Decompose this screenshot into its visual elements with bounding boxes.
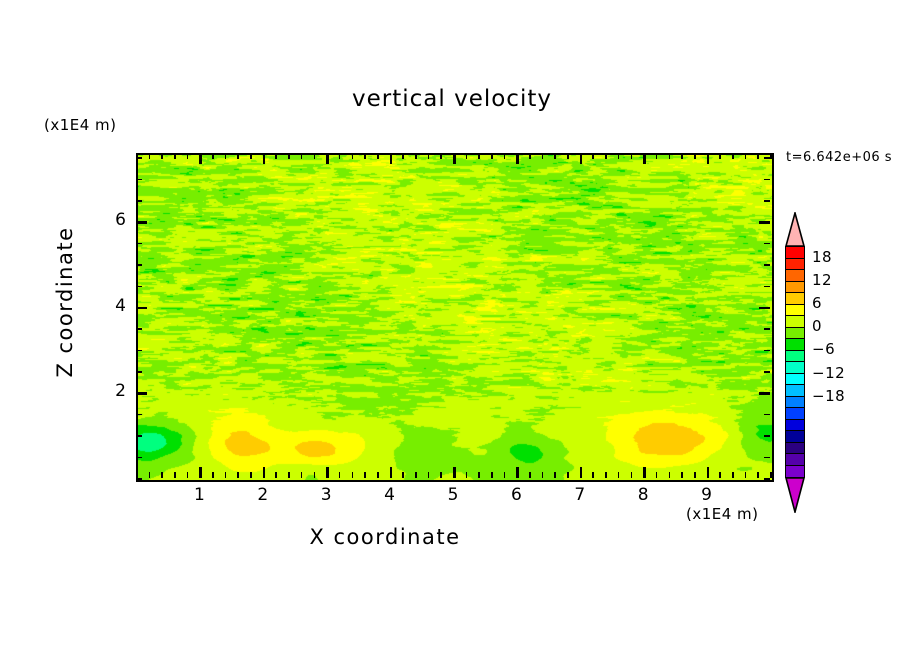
- colorbar-band: [786, 420, 804, 432]
- tick-mark: [643, 153, 646, 164]
- tick-mark: [618, 472, 620, 478]
- tick-mark: [567, 153, 569, 159]
- tick-mark: [149, 472, 151, 478]
- colorbar-band: [786, 339, 804, 351]
- tick-mark: [390, 467, 393, 478]
- x-tick-label: 2: [243, 485, 283, 505]
- tick-mark: [161, 153, 163, 159]
- tick-mark: [770, 153, 772, 159]
- colorbar-band: [786, 282, 804, 294]
- colorbar-band: [786, 431, 804, 443]
- y-tick-label: 2: [96, 381, 126, 401]
- tick-mark: [719, 472, 721, 478]
- tick-mark: [764, 243, 770, 245]
- tick-mark: [288, 153, 290, 159]
- tick-mark: [592, 472, 594, 478]
- tick-mark: [764, 414, 770, 416]
- x-axis-title: X coordinate: [0, 525, 770, 549]
- tick-mark: [453, 153, 456, 164]
- colorbar-over-cap: [785, 212, 805, 247]
- tick-mark: [453, 467, 456, 478]
- tick-mark: [732, 472, 734, 478]
- tick-mark: [136, 179, 142, 181]
- tick-mark: [212, 153, 214, 159]
- tick-mark: [314, 153, 316, 159]
- tick-mark: [415, 472, 417, 478]
- tick-mark: [764, 478, 770, 480]
- colorbar-tick-label: 18: [812, 248, 832, 266]
- tick-mark: [199, 153, 202, 164]
- tick-mark: [225, 153, 227, 159]
- tick-mark: [199, 467, 202, 478]
- colorbar-tick-label: 0: [812, 317, 822, 335]
- colorbar-bands: [785, 246, 805, 478]
- tick-mark: [669, 472, 671, 478]
- tick-mark: [605, 153, 607, 159]
- colorbar-band: [786, 443, 804, 455]
- tick-mark: [707, 467, 710, 478]
- tick-mark: [136, 457, 142, 459]
- y-axis-units-label: (x1E4 m): [44, 116, 117, 134]
- tick-mark: [364, 472, 366, 478]
- tick-mark: [326, 467, 329, 478]
- tick-mark: [764, 179, 770, 181]
- tick-mark: [301, 153, 303, 159]
- colorbar-band: [786, 293, 804, 305]
- y-tick-label: 6: [96, 210, 126, 230]
- tick-mark: [580, 153, 583, 164]
- x-tick-label: 7: [560, 485, 600, 505]
- tick-mark: [136, 371, 142, 373]
- tick-mark: [352, 153, 354, 159]
- time-annotation: t=6.642e+06 s: [786, 150, 892, 165]
- tick-mark: [542, 472, 544, 478]
- contour-field: [138, 155, 772, 480]
- tick-mark: [136, 392, 147, 395]
- tick-mark: [225, 472, 227, 478]
- colorbar-band: [786, 328, 804, 340]
- tick-mark: [732, 153, 734, 159]
- colorbar-band: [786, 374, 804, 386]
- colorbar-tick-labels: 181260−6−12−18: [812, 212, 882, 512]
- tick-mark: [136, 350, 142, 352]
- tick-mark: [136, 157, 142, 159]
- tick-mark: [504, 472, 506, 478]
- tick-mark: [136, 221, 147, 224]
- tick-mark: [554, 153, 556, 159]
- tick-mark: [377, 472, 379, 478]
- tick-mark: [136, 478, 142, 480]
- tick-mark: [542, 153, 544, 159]
- tick-mark: [656, 472, 658, 478]
- colorbar-band: [786, 385, 804, 397]
- x-axis-units-label: (x1E4 m): [686, 505, 759, 523]
- tick-mark: [694, 472, 696, 478]
- tick-mark: [187, 472, 189, 478]
- tick-mark: [136, 243, 142, 245]
- tick-mark: [136, 328, 142, 330]
- tick-mark: [554, 472, 556, 478]
- colorbar-tick-label: −18: [812, 387, 845, 405]
- tick-mark: [466, 153, 468, 159]
- chart-title: vertical velocity: [0, 86, 904, 112]
- tick-mark: [681, 472, 683, 478]
- tick-mark: [237, 472, 239, 478]
- colorbar-under-cap: [785, 477, 805, 513]
- tick-mark: [174, 153, 176, 159]
- x-tick-label: 3: [306, 485, 346, 505]
- tick-mark: [764, 371, 770, 373]
- tick-mark: [136, 286, 142, 288]
- tick-mark: [187, 153, 189, 159]
- tick-mark: [440, 153, 442, 159]
- tick-mark: [237, 153, 239, 159]
- colorbar-band: [786, 454, 804, 466]
- tick-mark: [415, 153, 417, 159]
- tick-mark: [757, 472, 759, 478]
- tick-mark: [275, 472, 277, 478]
- tick-mark: [364, 153, 366, 159]
- colorbar-band: [786, 259, 804, 271]
- tick-mark: [339, 153, 341, 159]
- tick-mark: [250, 472, 252, 478]
- tick-mark: [326, 153, 329, 164]
- tick-mark: [669, 153, 671, 159]
- colorbar-band: [786, 351, 804, 363]
- tick-mark: [136, 264, 142, 266]
- tick-mark: [764, 286, 770, 288]
- tick-mark: [504, 153, 506, 159]
- tick-mark: [440, 472, 442, 478]
- colorbar-band: [786, 305, 804, 317]
- tick-mark: [764, 200, 770, 202]
- tick-mark: [764, 264, 770, 266]
- x-tick-label: 4: [370, 485, 410, 505]
- tick-mark: [136, 307, 147, 310]
- tick-mark: [390, 153, 393, 164]
- tick-mark: [764, 328, 770, 330]
- tick-mark: [764, 435, 770, 437]
- tick-mark: [770, 472, 772, 478]
- tick-mark: [428, 472, 430, 478]
- tick-mark: [764, 350, 770, 352]
- colorbar-tick-label: 6: [812, 294, 822, 312]
- colorbar: [785, 212, 805, 512]
- tick-mark: [352, 472, 354, 478]
- tick-mark: [491, 153, 493, 159]
- tick-mark: [656, 153, 658, 159]
- tick-mark: [719, 153, 721, 159]
- tick-mark: [631, 472, 633, 478]
- tick-mark: [694, 153, 696, 159]
- tick-mark: [605, 472, 607, 478]
- colorbar-band: [786, 270, 804, 282]
- colorbar-tick-label: −6: [812, 340, 835, 358]
- tick-mark: [580, 467, 583, 478]
- tick-mark: [618, 153, 620, 159]
- colorbar-tick-label: −12: [812, 364, 845, 382]
- tick-mark: [466, 472, 468, 478]
- tick-mark: [339, 472, 341, 478]
- x-tick-label: 9: [687, 485, 727, 505]
- tick-mark: [764, 457, 770, 459]
- colorbar-band: [786, 247, 804, 259]
- x-tick-label: 6: [496, 485, 536, 505]
- tick-mark: [478, 472, 480, 478]
- tick-mark: [567, 472, 569, 478]
- tick-mark: [174, 472, 176, 478]
- x-tick-label: 8: [623, 485, 663, 505]
- tick-mark: [136, 200, 142, 202]
- y-tick-label: 4: [96, 296, 126, 316]
- colorbar-band: [786, 362, 804, 374]
- x-tick-label: 5: [433, 485, 473, 505]
- tick-mark: [136, 414, 142, 416]
- tick-mark: [764, 157, 770, 159]
- tick-mark: [402, 153, 404, 159]
- tick-mark: [161, 472, 163, 478]
- x-tick-label: 1: [179, 485, 219, 505]
- tick-mark: [301, 472, 303, 478]
- tick-mark: [314, 472, 316, 478]
- tick-mark: [631, 153, 633, 159]
- tick-mark: [516, 153, 519, 164]
- tick-mark: [149, 153, 151, 159]
- tick-mark: [136, 435, 142, 437]
- tick-mark: [516, 467, 519, 478]
- tick-mark: [428, 153, 430, 159]
- tick-mark: [745, 153, 747, 159]
- tick-mark: [478, 153, 480, 159]
- tick-mark: [275, 153, 277, 159]
- tick-mark: [263, 467, 266, 478]
- tick-mark: [402, 472, 404, 478]
- tick-mark: [759, 307, 770, 310]
- tick-mark: [757, 153, 759, 159]
- tick-mark: [681, 153, 683, 159]
- tick-mark: [529, 472, 531, 478]
- colorbar-tick-label: 12: [812, 271, 832, 289]
- colorbar-band: [786, 408, 804, 420]
- colorbar-band: [786, 316, 804, 328]
- y-axis-title: Z coordinate: [53, 202, 77, 402]
- tick-mark: [745, 472, 747, 478]
- tick-mark: [643, 467, 646, 478]
- tick-mark: [759, 392, 770, 395]
- tick-mark: [212, 472, 214, 478]
- tick-mark: [529, 153, 531, 159]
- tick-mark: [377, 153, 379, 159]
- tick-mark: [250, 153, 252, 159]
- tick-mark: [491, 472, 493, 478]
- tick-mark: [263, 153, 266, 164]
- tick-mark: [759, 221, 770, 224]
- colorbar-band: [786, 397, 804, 409]
- tick-mark: [288, 472, 290, 478]
- colorbar-band: [786, 466, 804, 478]
- contour-plot-area: [136, 153, 774, 482]
- tick-mark: [592, 153, 594, 159]
- tick-mark: [707, 153, 710, 164]
